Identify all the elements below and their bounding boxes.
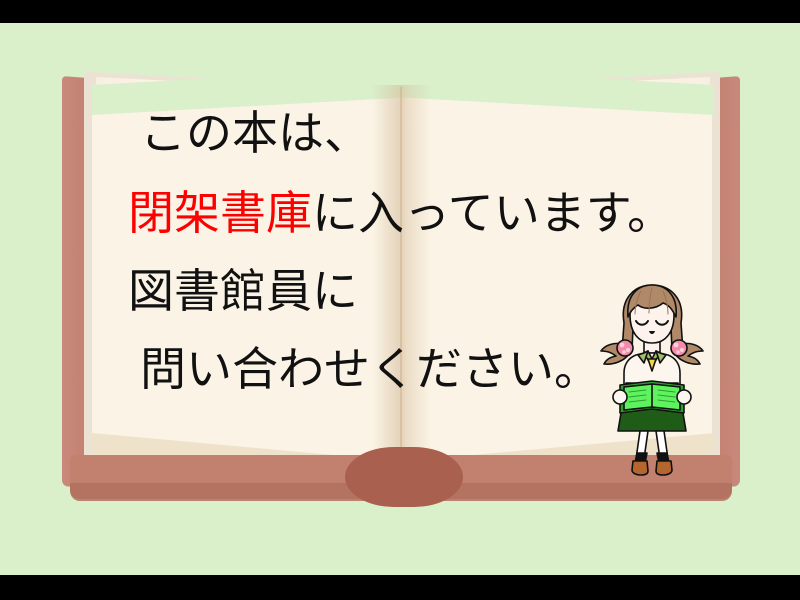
screenshot-stage: この本は、 閉架書庫に入っています。 図書館員に 問い合わせください。 xyxy=(0,0,800,600)
girl-reading-illustration xyxy=(600,281,704,476)
message-line-3: 図書館員に xyxy=(128,268,358,314)
message-line-4: 問い合わせください。 xyxy=(140,346,600,392)
letterbox-bar-bottom xyxy=(0,575,800,600)
message-line-2: 閉架書庫に入っています。 xyxy=(128,190,673,236)
message-line-1: この本は、 xyxy=(140,110,370,156)
message-highlight: 閉架書庫 xyxy=(128,186,312,240)
message-line-2-rest: に入っています。 xyxy=(312,186,673,240)
